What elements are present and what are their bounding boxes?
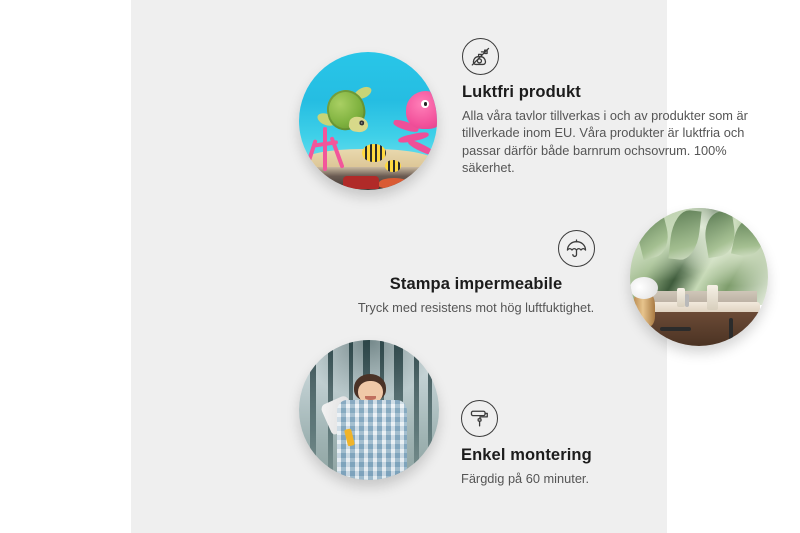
drawer-handle [729,318,733,340]
feature-title: Stampa impermeabile [335,275,617,294]
flowers [630,277,658,299]
paint-roller-icon [461,400,498,437]
feature-mounting: Enkel montering Färgdig på 60 minuter. [461,400,701,487]
umbrella-icon [558,230,595,267]
feature-body: Alla våra tavlor tillverkas i och av pro… [462,107,762,177]
bottle [707,285,718,310]
feature-title: Luktfri produkt [462,83,762,102]
screenshot-root: Luktfri produkt Alla våra tavlor tillver… [0,0,800,533]
feature-waterproof: Stampa impermeabile Tryck med resistens … [335,230,617,316]
bottle [677,288,685,307]
faucet-icon [685,294,689,308]
turtle-icon [316,85,379,140]
content-panel: Luktfri produkt Alla våra tavlor tillver… [131,0,667,533]
woman-with-roller [335,374,408,480]
product-image-bathroom[interactable] [630,208,768,346]
fish-icon [385,160,402,172]
feature-body: Tryck med resistens mot hög luftfuktighe… [335,299,617,316]
product-image-forest[interactable] [299,340,439,480]
feature-title: Enkel montering [461,446,701,465]
octopus-icon [390,91,437,163]
no-odour-spray-bottle-icon [462,38,499,75]
product-image-underwater[interactable] [299,52,437,190]
feature-body: Färgdig på 60 minuter. [461,470,701,487]
feature-odourless: Luktfri produkt Alla våra tavlor tillver… [462,38,762,177]
drawer-handle [660,327,690,331]
